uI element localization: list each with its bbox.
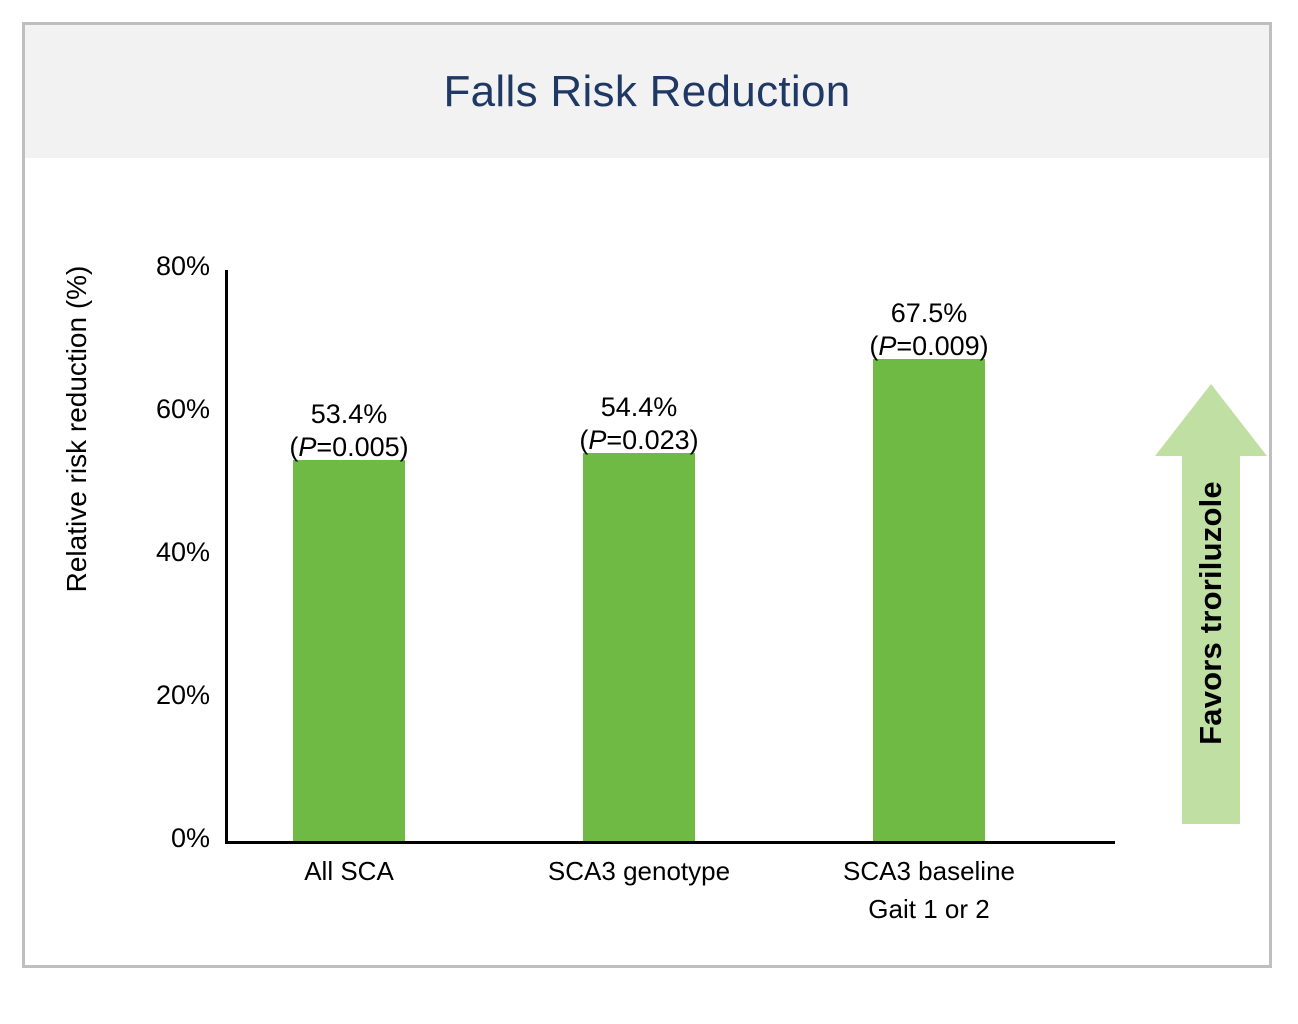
bar-sca3-baseline-gait[interactable] bbox=[873, 359, 985, 841]
y-axis-title: Relative risk reduction (%) bbox=[61, 229, 93, 629]
y-tick-label-20: 20% bbox=[115, 680, 210, 711]
x-axis-label-sca3-baseline-line1: SCA3 baseline bbox=[809, 853, 1049, 891]
x-axis-label-sca3-baseline: SCA3 baseline Gait 1 or 2 bbox=[809, 853, 1049, 928]
x-axis-label-sca3-genotype: SCA3 genotype bbox=[519, 853, 759, 891]
bar-value-0: 53.4% bbox=[249, 398, 449, 431]
x-axis-line bbox=[225, 841, 1115, 844]
x-axis-label-sca3-baseline-line2: Gait 1 or 2 bbox=[809, 891, 1049, 929]
chart-frame: Falls Risk Reduction Relative risk reduc… bbox=[22, 22, 1272, 968]
bar-pvalue-0: (P=0.005) bbox=[249, 431, 449, 464]
bar-all-sca[interactable] bbox=[293, 460, 405, 841]
bar-value-label-2: 67.5% (P=0.009) bbox=[829, 297, 1029, 363]
bar-value-label-0: 53.4% (P=0.005) bbox=[249, 398, 449, 464]
bar-pvalue-1: (P=0.023) bbox=[539, 424, 739, 457]
chart-title-band: Falls Risk Reduction bbox=[25, 25, 1269, 158]
bar-value-1: 54.4% bbox=[539, 391, 739, 424]
bar-pvalue-2-rest: =0.009 bbox=[896, 331, 979, 361]
y-axis-line bbox=[225, 270, 228, 844]
y-tick-label-80: 80% bbox=[115, 251, 210, 282]
x-axis-label-sca3-genotype-line1: SCA3 genotype bbox=[519, 853, 759, 891]
bar-value-label-1: 54.4% (P=0.023) bbox=[539, 391, 739, 457]
page-title: Falls Risk Reduction bbox=[443, 67, 850, 117]
y-tick-label-60: 60% bbox=[115, 394, 210, 425]
bar-sca3-genotype[interactable] bbox=[583, 453, 695, 841]
x-axis-label-all-sca-line1: All SCA bbox=[229, 853, 469, 891]
y-tick-label-0: 0% bbox=[115, 823, 210, 854]
plot-area: Relative risk reduction (%) 80% 60% 40% … bbox=[25, 158, 1269, 965]
y-tick-label-40: 40% bbox=[115, 537, 210, 568]
favors-direction-annotation: Favors troriluzole bbox=[1153, 380, 1269, 828]
bar-pvalue-2: (P=0.009) bbox=[829, 330, 1029, 363]
favors-arrow-label: Favors troriluzole bbox=[1193, 481, 1229, 745]
bar-value-2: 67.5% bbox=[829, 297, 1029, 330]
bar-pvalue-0-rest: =0.005 bbox=[316, 432, 399, 462]
x-axis-label-all-sca: All SCA bbox=[229, 853, 469, 891]
bar-pvalue-1-rest: =0.023 bbox=[606, 425, 689, 455]
